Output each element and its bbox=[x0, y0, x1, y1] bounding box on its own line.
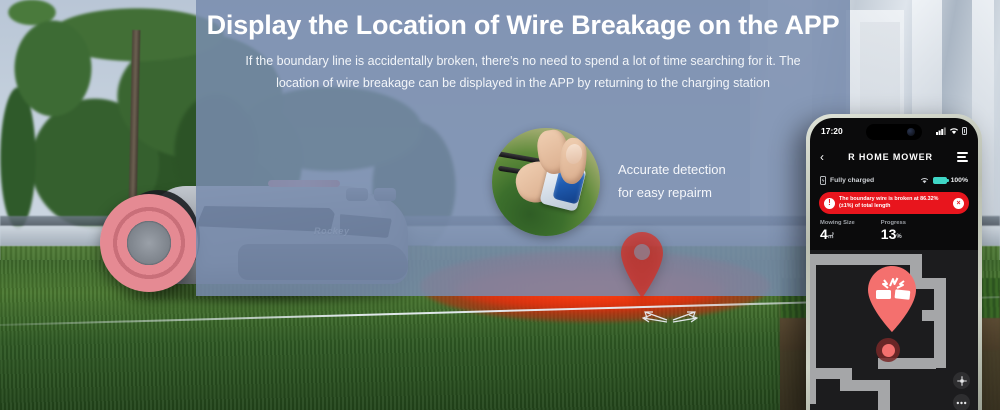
stat-mowing-size: Mowing Size 4㎡ bbox=[820, 220, 855, 245]
callout-line-2: for easy repairm bbox=[618, 181, 778, 204]
stat-number: 4 bbox=[820, 226, 828, 242]
map-boundary-segment bbox=[922, 310, 946, 321]
app-nav-bar: ‹ R HOME MOWER bbox=[810, 145, 978, 169]
stat-unit: % bbox=[896, 234, 901, 240]
stat-unit: ㎡ bbox=[828, 234, 834, 240]
app-title: R HOME MOWER bbox=[848, 152, 933, 162]
stat-value: 13% bbox=[881, 226, 906, 245]
phone-screen: 17:20 ‹ R HOME MOWER bbox=[810, 118, 978, 410]
chevron-left-icon[interactable]: ‹ bbox=[820, 151, 824, 163]
stat-progress: Progress 13% bbox=[881, 220, 906, 245]
callout-line-1: Accurate detection bbox=[618, 158, 778, 181]
mower-position-icon[interactable] bbox=[876, 338, 900, 362]
scene-root: Rockey Display the Location of Wire Brea… bbox=[0, 0, 1000, 410]
alert-message: The boundary wire is broken at 86.32% (±… bbox=[839, 196, 949, 211]
location-pin-icon bbox=[618, 230, 666, 300]
mowing-stats: Mowing Size 4㎡ Progress 13% bbox=[820, 220, 970, 245]
stat-value: 4㎡ bbox=[820, 226, 855, 245]
page-title: Display the Location of Wire Breakage on… bbox=[196, 10, 850, 41]
battery-status-label: Fully charged bbox=[830, 177, 874, 184]
mower-wheel bbox=[100, 194, 198, 292]
wire-break-alert-banner[interactable]: ! The boundary wire is broken at 86.32% … bbox=[819, 192, 969, 214]
more-options-icon[interactable] bbox=[953, 394, 970, 410]
device-status-row: Fully charged 100% bbox=[810, 171, 978, 189]
page-subtitle: If the boundary line is accidentally bro… bbox=[210, 50, 836, 94]
subtitle-line-2: location of wire breakage can be display… bbox=[210, 72, 836, 94]
status-bar-indicators bbox=[936, 127, 967, 135]
callout-text: Accurate detection for easy repairm bbox=[618, 158, 778, 204]
stat-number: 13 bbox=[881, 226, 897, 242]
connectivity-group: 100% bbox=[920, 177, 968, 184]
status-bar-time: 17:20 bbox=[821, 126, 843, 136]
battery-status-group: Fully charged bbox=[820, 176, 874, 185]
map-boundary-segment bbox=[810, 254, 922, 265]
map-boundary-segment bbox=[934, 278, 946, 368]
subtitle-line-1: If the boundary line is accidentally bro… bbox=[210, 50, 836, 72]
alert-circle-icon: ! bbox=[824, 198, 835, 209]
map-boundary-segment bbox=[878, 380, 890, 410]
battery-charging-icon bbox=[820, 176, 826, 185]
wire-connector-photo bbox=[492, 128, 600, 236]
close-circle-icon[interactable]: × bbox=[953, 198, 964, 209]
phone-notch bbox=[866, 124, 922, 140]
wire-break-arrows bbox=[625, 306, 715, 332]
map-boundary-segment bbox=[810, 254, 816, 404]
hamburger-menu-icon[interactable] bbox=[957, 152, 968, 162]
locate-crosshair-icon[interactable] bbox=[953, 372, 970, 389]
battery-icon bbox=[962, 127, 967, 135]
battery-full-icon bbox=[933, 177, 947, 184]
phone-mockup: 17:20 ‹ R HOME MOWER bbox=[806, 114, 982, 410]
battery-percent: 100% bbox=[951, 177, 968, 184]
wifi-icon bbox=[920, 177, 929, 184]
cellular-signal-icon bbox=[936, 127, 946, 135]
front-camera bbox=[907, 128, 915, 136]
wifi-icon bbox=[949, 127, 959, 135]
lawn-map[interactable] bbox=[810, 250, 978, 410]
broken-wire-pin-icon[interactable] bbox=[866, 266, 918, 332]
